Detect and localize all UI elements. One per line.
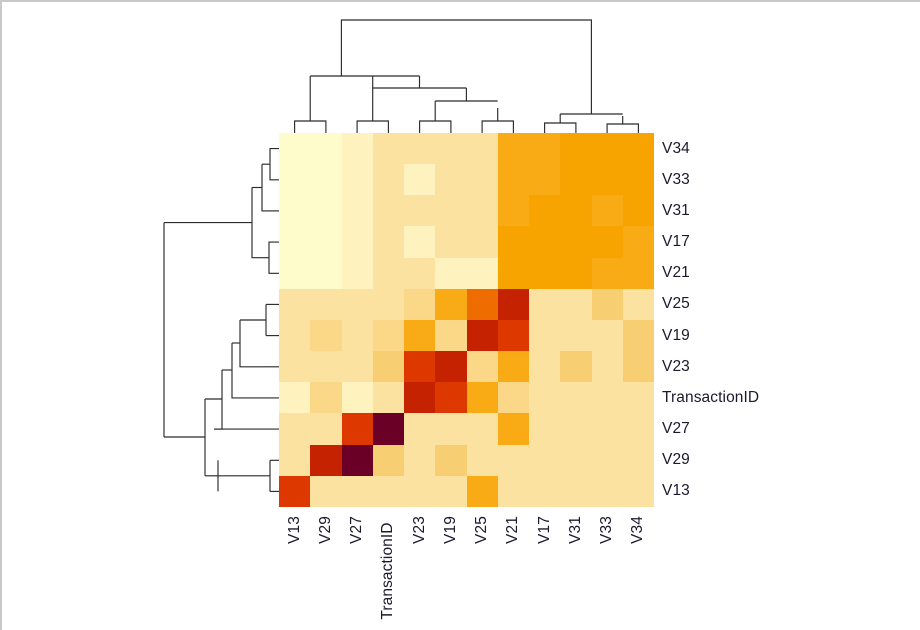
- heatmap-cell: [592, 258, 623, 289]
- heatmap-cell: [435, 320, 466, 351]
- column-label-transactionid: TransactionID: [373, 511, 404, 630]
- row-label-v34: V34: [662, 133, 912, 164]
- heatmap-cell: [342, 351, 373, 382]
- heatmap-matrix: [279, 133, 654, 507]
- heatmap-cell: [592, 445, 623, 476]
- heatmap-cell: [373, 133, 404, 164]
- heatmap-cell: [560, 413, 591, 444]
- heatmap-cell: [279, 258, 310, 289]
- heatmap-cell: [279, 289, 310, 320]
- heatmap-cell: [435, 195, 466, 226]
- heatmap-cell: [560, 320, 591, 351]
- heatmap-cell: [342, 289, 373, 320]
- heatmap-cell: [310, 133, 341, 164]
- heatmap-cell: [404, 382, 435, 413]
- heatmap-cell: [529, 382, 560, 413]
- heatmap-cell: [373, 164, 404, 195]
- heatmap-cell: [310, 164, 341, 195]
- heatmap-cell: [592, 226, 623, 257]
- heatmap-cell: [404, 258, 435, 289]
- row-label-v27: V27: [662, 414, 912, 445]
- heatmap-cell: [592, 382, 623, 413]
- heatmap-cell: [467, 258, 498, 289]
- heatmap-cell: [498, 133, 529, 164]
- heatmap-cell: [373, 476, 404, 507]
- column-label-v25: V25: [467, 511, 498, 630]
- heatmap-cell: [560, 351, 591, 382]
- heatmap-cell: [467, 289, 498, 320]
- column-label-v17: V17: [529, 511, 560, 630]
- heatmap-cell: [342, 476, 373, 507]
- column-label-axis: V13V29V27TransactionIDV23V19V25V21V17V31…: [279, 511, 654, 630]
- column-label-v34: V34: [623, 511, 654, 630]
- heatmap-cell: [373, 289, 404, 320]
- heatmap-cell: [310, 320, 341, 351]
- heatmap-cell: [467, 351, 498, 382]
- heatmap-cell: [435, 289, 466, 320]
- heatmap-cell: [623, 351, 654, 382]
- heatmap-cell: [560, 226, 591, 257]
- column-label-v21: V21: [498, 511, 529, 630]
- heatmap-cell: [404, 445, 435, 476]
- heatmap-cell: [467, 445, 498, 476]
- heatmap-cell: [404, 413, 435, 444]
- heatmap-cell: [373, 413, 404, 444]
- heatmap-cell: [279, 164, 310, 195]
- heatmap-cell: [498, 226, 529, 257]
- heatmap-cell: [467, 382, 498, 413]
- heatmap-cell: [310, 258, 341, 289]
- heatmap-cell: [373, 320, 404, 351]
- heatmap-cell: [467, 320, 498, 351]
- row-label-v25: V25: [662, 289, 912, 320]
- heatmap-cell: [404, 351, 435, 382]
- heatmap-cell: [342, 258, 373, 289]
- heatmap-cell: [467, 226, 498, 257]
- heatmap-cell: [435, 445, 466, 476]
- heatmap-cell: [498, 382, 529, 413]
- heatmap-cell: [435, 164, 466, 195]
- heatmap-cell: [592, 289, 623, 320]
- row-label-transactionid: TransactionID: [662, 382, 912, 413]
- heatmap-cell: [279, 413, 310, 444]
- heatmap-cell: [623, 382, 654, 413]
- heatmap-cell: [279, 382, 310, 413]
- heatmap-cell: [560, 382, 591, 413]
- heatmap-cell: [592, 320, 623, 351]
- row-label-v17: V17: [662, 227, 912, 258]
- heatmap-cell: [279, 476, 310, 507]
- heatmap-cell: [592, 413, 623, 444]
- column-label-v31: V31: [560, 511, 591, 630]
- heatmap-cell: [529, 226, 560, 257]
- heatmap-cell: [498, 289, 529, 320]
- heatmap-cell: [342, 133, 373, 164]
- heatmap-cell: [310, 289, 341, 320]
- heatmap-cell: [623, 413, 654, 444]
- heatmap-cell: [310, 382, 341, 413]
- heatmap-cell: [498, 164, 529, 195]
- row-dendrogram: [148, 133, 279, 507]
- heatmap-cell: [435, 413, 466, 444]
- heatmap-cell: [404, 226, 435, 257]
- heatmap-cell: [623, 258, 654, 289]
- heatmap-cell: [623, 164, 654, 195]
- heatmap-cell: [592, 351, 623, 382]
- heatmap-cell: [435, 351, 466, 382]
- heatmap-cell: [342, 445, 373, 476]
- heatmap-cell: [560, 164, 591, 195]
- heatmap-cell: [373, 445, 404, 476]
- heatmap-cell: [623, 133, 654, 164]
- heatmap-cell: [560, 133, 591, 164]
- heatmap-cell: [404, 133, 435, 164]
- heatmap-cell: [529, 133, 560, 164]
- heatmap-cell: [404, 320, 435, 351]
- heatmap-cell: [529, 445, 560, 476]
- heatmap-cell: [310, 413, 341, 444]
- heatmap-cell: [529, 289, 560, 320]
- heatmap-cell: [623, 445, 654, 476]
- heatmap-cell: [279, 445, 310, 476]
- heatmap-cell: [310, 476, 341, 507]
- column-label-v27: V27: [342, 511, 373, 630]
- column-label-v19: V19: [435, 511, 466, 630]
- heatmap-cell: [529, 195, 560, 226]
- heatmap-cell: [592, 133, 623, 164]
- heatmap-cell: [498, 195, 529, 226]
- row-label-v31: V31: [662, 195, 912, 226]
- heatmap-cell: [592, 164, 623, 195]
- heatmap-cell: [498, 445, 529, 476]
- heatmap-cell: [279, 195, 310, 226]
- heatmap-cell: [560, 476, 591, 507]
- heatmap-cell: [435, 133, 466, 164]
- heatmap-cell: [342, 164, 373, 195]
- heatmap-cell: [529, 320, 560, 351]
- heatmap-cell: [529, 351, 560, 382]
- row-label-v23: V23: [662, 351, 912, 382]
- heatmap-cell: [342, 413, 373, 444]
- heatmap-cell: [404, 289, 435, 320]
- row-label-v13: V13: [662, 476, 912, 507]
- heatmap-cell: [529, 164, 560, 195]
- heatmap-cell: [592, 476, 623, 507]
- heatmap-cell: [467, 133, 498, 164]
- row-label-v29: V29: [662, 445, 912, 476]
- heatmap-cell: [623, 195, 654, 226]
- heatmap-cell: [498, 320, 529, 351]
- heatmap-cell: [310, 351, 341, 382]
- heatmap-cell: [623, 320, 654, 351]
- heatmap-cell: [404, 164, 435, 195]
- heatmap-cell: [435, 476, 466, 507]
- heatmap-cell: [592, 195, 623, 226]
- row-label-v21: V21: [662, 258, 912, 289]
- heatmap-cell: [373, 226, 404, 257]
- column-label-v23: V23: [404, 511, 435, 630]
- heatmap-cell: [279, 320, 310, 351]
- heatmap-cell: [310, 195, 341, 226]
- column-label-v13: V13: [279, 511, 310, 630]
- heatmap-cell: [404, 195, 435, 226]
- heatmap-cell: [529, 258, 560, 289]
- heatmap-cell: [373, 195, 404, 226]
- heatmap-cell: [373, 351, 404, 382]
- heatmap-cell: [342, 195, 373, 226]
- figure-canvas: V34V33V31V17V21V25V19V23TransactionIDV27…: [0, 0, 920, 630]
- heatmap-cell: [310, 226, 341, 257]
- heatmap-cell: [560, 258, 591, 289]
- heatmap-cell: [560, 445, 591, 476]
- heatmap-cell: [342, 320, 373, 351]
- heatmap-cell: [498, 413, 529, 444]
- heatmap-cell: [560, 289, 591, 320]
- heatmap-cell: [529, 413, 560, 444]
- heatmap-cell: [435, 258, 466, 289]
- row-label-v33: V33: [662, 164, 912, 195]
- heatmap-cell: [467, 195, 498, 226]
- heatmap-cell: [467, 413, 498, 444]
- heatmap-cell: [404, 476, 435, 507]
- heatmap-cell: [467, 164, 498, 195]
- heatmap-cell: [342, 226, 373, 257]
- column-label-v29: V29: [310, 511, 341, 630]
- heatmap-cell: [623, 476, 654, 507]
- column-label-v33: V33: [592, 511, 623, 630]
- heatmap-cell: [467, 476, 498, 507]
- heatmap-cell: [435, 226, 466, 257]
- heatmap-cell: [498, 476, 529, 507]
- row-label-axis: V34V33V31V17V21V25V19V23TransactionIDV27…: [662, 133, 912, 507]
- row-label-v19: V19: [662, 320, 912, 351]
- heatmap-cell: [623, 289, 654, 320]
- heatmap-cell: [529, 476, 560, 507]
- heatmap-cell: [342, 382, 373, 413]
- heatmap-cell: [623, 226, 654, 257]
- heatmap-cell: [279, 351, 310, 382]
- heatmap-cell: [279, 226, 310, 257]
- heatmap-cell: [373, 258, 404, 289]
- column-dendrogram: [279, 8, 654, 133]
- heatmap-cell: [498, 258, 529, 289]
- heatmap-cell: [310, 445, 341, 476]
- heatmap-cell: [498, 351, 529, 382]
- heatmap-cell: [560, 195, 591, 226]
- heatmap-cell: [373, 382, 404, 413]
- heatmap-cell: [279, 133, 310, 164]
- heatmap-cell: [435, 382, 466, 413]
